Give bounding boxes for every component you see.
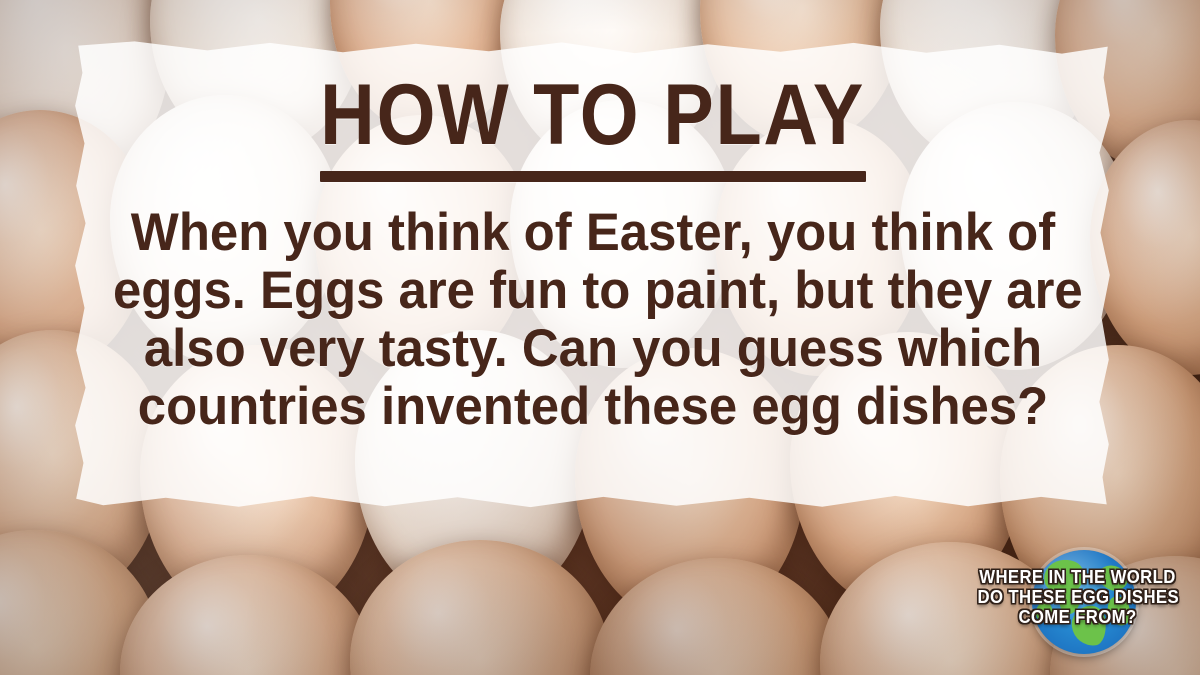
- logo-title-line: DO THESE EGG DISHES: [978, 588, 1178, 608]
- instructions-line: countries invented these egg dishes?: [113, 378, 1073, 436]
- quiz-logo-watermark: WHERE IN THE WORLD DO THESE EGG DISHES C…: [970, 548, 1185, 658]
- page-title: HOW TO PLAY: [321, 74, 866, 157]
- logo-title-line: COME FROM?: [978, 608, 1178, 628]
- logo-title-text: WHERE IN THE WORLD DO THESE EGG DISHES C…: [978, 568, 1178, 627]
- logo-title-line: WHERE IN THE WORLD: [978, 568, 1178, 588]
- title-underline-rule: [320, 171, 866, 182]
- instructions-line: When you think of Easter, you think of: [113, 204, 1073, 262]
- instructions-line: eggs. Eggs are fun to paint, but they ar…: [113, 262, 1073, 320]
- slide-canvas: HOW TO PLAY When you think of Easter, yo…: [0, 0, 1200, 675]
- card-content: HOW TO PLAY When you think of Easter, yo…: [72, 40, 1114, 510]
- instructions-text: When you think of Easter, you think of e…: [113, 204, 1073, 437]
- instructions-line: also very tasty. Can you guess which: [113, 320, 1073, 378]
